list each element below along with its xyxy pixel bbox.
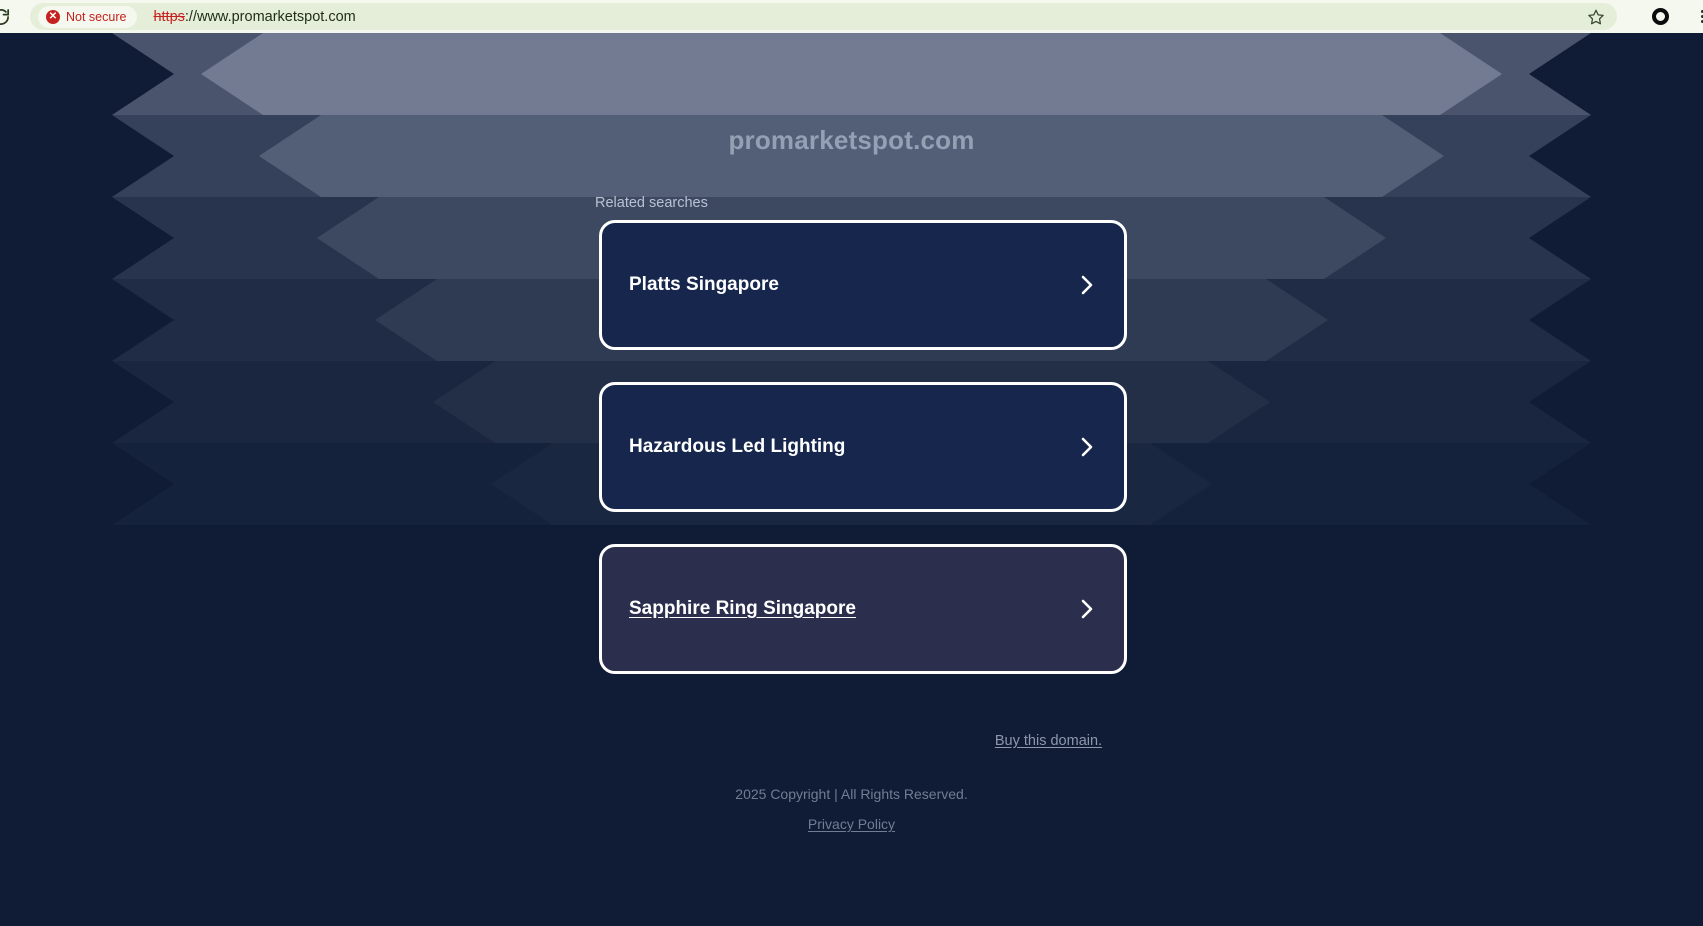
kebab-menu-icon[interactable] [1693,5,1703,29]
url-text[interactable]: https://www.promarketspot.com [153,9,355,25]
not-secure-label: Not secure [66,10,126,24]
privacy-policy-link[interactable]: Privacy Policy [0,816,1703,832]
security-status-chip[interactable]: ✕ Not secure [38,6,137,28]
related-search-label: Platts Singapore [629,274,779,296]
buy-this-domain-link[interactable]: Buy this domain. [0,733,1703,749]
related-search-label: Hazardous Led Lighting [629,436,845,458]
related-search-card[interactable]: Platts Singapore [599,220,1127,350]
url-scheme: https [153,9,184,25]
bookmark-star-icon[interactable] [1585,6,1607,28]
not-secure-badge-icon: ✕ [46,10,60,24]
chevron-right-icon [1076,596,1098,622]
page-content: promarketspot.com Related searches Platt… [0,33,1703,926]
page-title: promarketspot.com [0,125,1703,156]
related-searches-list: Platts SingaporeHazardous Led LightingSa… [599,220,1127,706]
url-host: ://www.promarketspot.com [185,9,356,25]
reload-icon[interactable] [0,4,14,30]
browser-toolbar: ✕ Not secure https://www.promarketspot.c… [0,0,1703,33]
copyright-text: 2025 Copyright | All Rights Reserved. [0,786,1703,802]
parked-domain-page: promarketspot.com Related searches Platt… [0,33,1703,926]
chevron-right-icon [1076,272,1098,298]
related-search-card[interactable]: Sapphire Ring Singapore [599,544,1127,674]
address-bar[interactable]: ✕ Not secure https://www.promarketspot.c… [30,3,1617,30]
profile-avatar-icon[interactable] [1649,6,1671,28]
related-search-card[interactable]: Hazardous Led Lighting [599,382,1127,512]
avatar [1652,8,1669,25]
related-search-label: Sapphire Ring Singapore [629,598,856,620]
related-searches-label: Related searches [595,195,708,211]
chevron-right-icon [1076,434,1098,460]
